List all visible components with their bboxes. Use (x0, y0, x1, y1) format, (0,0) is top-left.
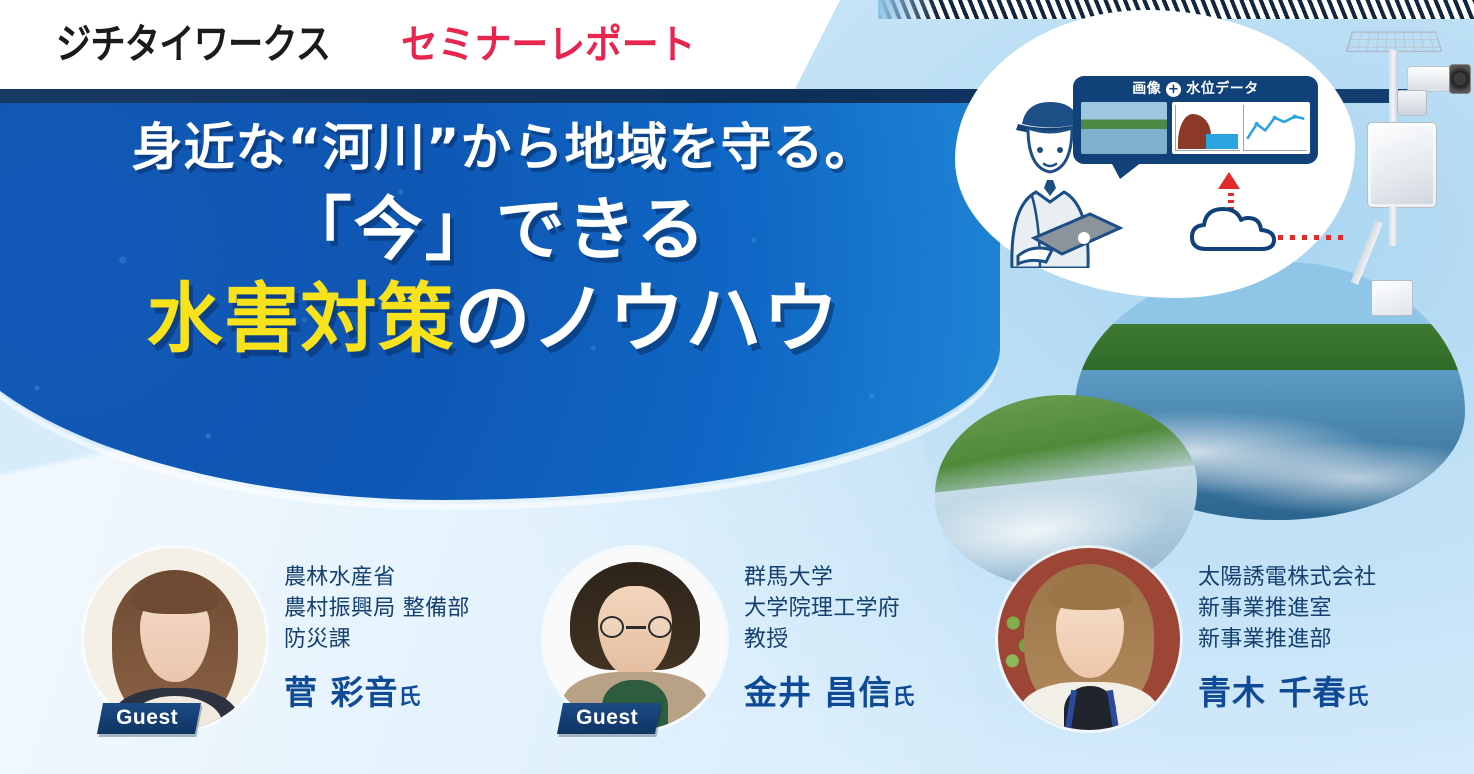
title-line-2: 「今」できる (0, 190, 980, 271)
guest-org-line: 太陽誘電株式会社 (1198, 562, 1376, 593)
guest-badge: Guest (97, 703, 201, 734)
solar-panel-icon (1346, 31, 1443, 51)
avatar-wrap: Guest (84, 548, 266, 730)
cross-section-chart (1175, 105, 1240, 151)
solar-camera-device (1345, 22, 1465, 342)
title-line-3: 水害対策のノウハウ (0, 274, 980, 364)
guest-badge-label: Guest (116, 706, 178, 730)
cloud-icon (1190, 205, 1276, 251)
bubble-label-waterlevel: 水位データ (1186, 81, 1259, 98)
guest-name-text: 菅 彩音 (284, 673, 399, 712)
avatar-wrap (998, 548, 1180, 730)
title-line-1: 身近な“河川”から地域を守る。 (0, 118, 980, 180)
guest-org-line: 防災課 (284, 624, 470, 655)
camera-mount (1397, 90, 1427, 116)
guest-org-line: 新事業推進部 (1198, 624, 1376, 655)
guest-org-line: 農村振興局 整備部 (284, 593, 470, 624)
guest-org-line: 教授 (744, 624, 916, 655)
guest-name-suffix: 氏 (1347, 685, 1370, 710)
title-highlight-yellow: 水害対策 (147, 274, 455, 363)
upward-arrow-icon (1218, 172, 1240, 189)
camera-lens-icon (1449, 64, 1471, 94)
guest-info: 農林水産省 農村振興局 整備部 防災課 菅 彩音氏 (284, 548, 470, 714)
guest-item: 太陽誘電株式会社 新事業推進室 新事業推進部 青木 千春氏 (998, 548, 1376, 730)
avatar-wrap: Guest (544, 548, 726, 730)
bubble-content-row (1081, 102, 1310, 154)
guest-org-line: 新事業推進室 (1198, 593, 1376, 624)
guest-name-text: 青木 千春 (1198, 673, 1347, 712)
hatch-fade-overlay (878, 0, 938, 19)
guest-org-line: 大学院理工学府 (744, 593, 916, 624)
title-line-3-tail: のノウハウ (455, 274, 840, 363)
guest-org-line: 群馬大学 (744, 562, 916, 593)
title-block: 身近な“河川”から地域を守る。 「今」できる 水害対策のノウハウ (0, 118, 980, 363)
water-level-line-chart (1243, 105, 1308, 151)
guest-list: Guest 農林水産省 農村振興局 整備部 防災課 菅 彩音氏 Guest (0, 548, 1474, 774)
guest-name-text: 金井 昌信 (744, 673, 893, 712)
header-ribbon: ジチタイワークス セミナーレポート (0, 0, 840, 89)
control-enclosure-box (1367, 122, 1437, 208)
guest-info: 太陽誘電株式会社 新事業推進室 新事業推進部 青木 千春氏 (1198, 548, 1376, 714)
sensor-box (1371, 280, 1413, 316)
device-pole-lower (1389, 206, 1398, 246)
river-thumbnail-icon (1081, 102, 1167, 154)
guest-info: 群馬大学 大学院理工学府 教授 金井 昌信氏 (744, 548, 916, 714)
bubble-label-image: 画像 (1132, 81, 1161, 98)
guest-org-line: 農林水産省 (284, 562, 470, 593)
guest-name: 菅 彩音氏 (284, 666, 470, 714)
seminar-report-label: セミナーレポート (401, 25, 695, 65)
guest-badge: Guest (557, 703, 661, 734)
water-level-shape (1206, 134, 1237, 149)
charts-panel (1172, 102, 1310, 154)
guest-item: Guest 群馬大学 大学院理工学府 教授 金井 昌信氏 (544, 548, 916, 730)
brand-logo-text: ジチタイワークス (56, 24, 330, 65)
guest-badge-label: Guest (576, 706, 638, 730)
guest-name: 青木 千春氏 (1198, 666, 1376, 714)
guest-name-suffix: 氏 (399, 685, 422, 710)
guest-name: 金井 昌信氏 (744, 666, 916, 714)
banner-stage: ジチタイワークス セミナーレポート (0, 0, 1474, 774)
plus-icon: + (1166, 82, 1181, 97)
data-speech-bubble: 画像 + 水位データ (1073, 76, 1318, 164)
guest-name-suffix: 氏 (893, 685, 916, 710)
device-brace (1351, 221, 1383, 285)
bubble-title-row: 画像 + 水位データ (1081, 81, 1310, 98)
glasses-icon (598, 616, 674, 638)
guest-item: Guest 農林水産省 農村振興局 整備部 防災課 菅 彩音氏 (84, 548, 470, 730)
avatar (998, 548, 1180, 730)
